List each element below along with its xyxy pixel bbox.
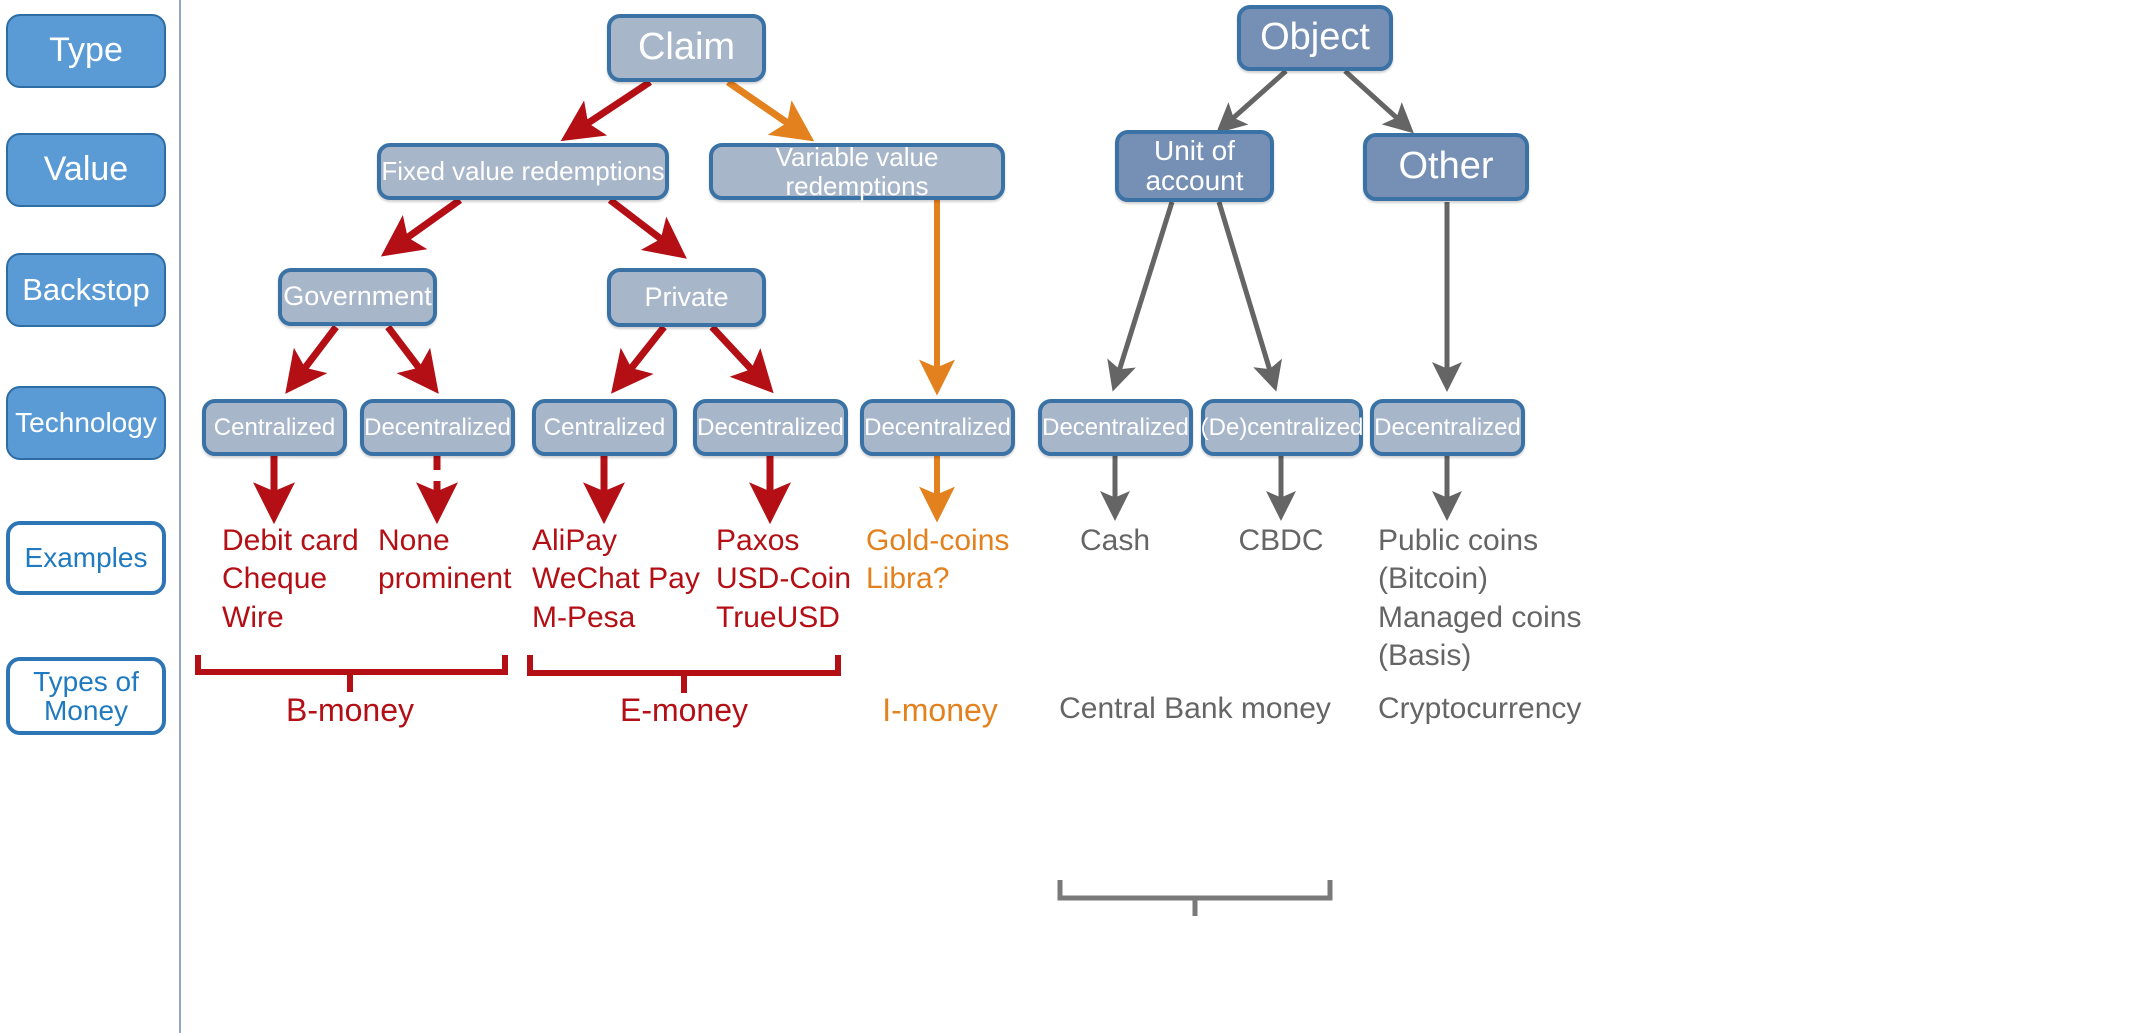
example-e-centralized: AliPay WeChat Pay M-Pesa <box>532 522 732 637</box>
row-label-type[interactable]: Type <box>6 14 166 88</box>
example-cbdc: CBDC <box>1211 522 1351 560</box>
money-type-central-bank-money: Central Bank money <box>1055 690 1335 728</box>
node-tech-priv-decentralized[interactable]: Decentralized <box>693 399 848 456</box>
money-type-cryptocurrency: Cryptocurrency <box>1378 690 1628 728</box>
node-unit-of-account[interactable]: Unit of account <box>1115 130 1274 202</box>
node-tech-uoa-decentralized-2-label: (De)centralized <box>1201 415 1364 441</box>
node-claim[interactable]: Claim <box>607 14 766 82</box>
node-tech-uoa-decentralized[interactable]: Decentralized <box>1038 399 1193 456</box>
node-variable-value-redemptions[interactable]: Variable value redemptions <box>709 143 1005 200</box>
money-type-b-money: B-money <box>255 690 445 731</box>
row-label-type-text: Type <box>49 33 123 69</box>
node-tech-gov-decentralized-label: Decentralized <box>364 415 511 441</box>
node-tech-gov-decentralized[interactable]: Decentralized <box>360 399 515 456</box>
node-private[interactable]: Private <box>607 268 766 327</box>
row-label-examples[interactable]: Examples <box>6 521 166 595</box>
node-tech-other-decentralized-label: Decentralized <box>1374 415 1521 441</box>
node-tech-gov-centralized[interactable]: Centralized <box>202 399 347 456</box>
node-tech-priv-centralized[interactable]: Centralized <box>532 399 677 456</box>
node-tech-priv-centralized-label: Centralized <box>544 415 665 441</box>
row-label-types-of-money-text: Types of Money <box>33 667 139 726</box>
node-tech-variable-decentralized[interactable]: Decentralized <box>860 399 1015 456</box>
node-tech-uoa-decentralized-2[interactable]: (De)centralized <box>1201 399 1363 456</box>
node-tech-uoa-decentralized-label: Decentralized <box>1042 415 1189 441</box>
node-other-label: Other <box>1398 146 1493 187</box>
row-label-backstop[interactable]: Backstop <box>6 253 166 327</box>
node-fixed-value-label: Fixed value redemptions <box>381 157 664 185</box>
node-tech-variable-decentralized-label: Decentralized <box>864 415 1011 441</box>
node-claim-label: Claim <box>638 27 735 68</box>
row-label-types-of-money[interactable]: Types of Money <box>6 657 166 735</box>
node-other[interactable]: Other <box>1363 133 1529 201</box>
example-i-money: Gold-coins Libra? <box>866 522 1056 599</box>
row-label-value-text: Value <box>44 152 128 188</box>
example-b-decentralized: None prominent <box>378 522 558 599</box>
money-type-i-money: I-money <box>845 690 1035 731</box>
node-object-label: Object <box>1260 17 1370 58</box>
node-unit-of-account-label: Unit of account <box>1145 136 1243 196</box>
node-fixed-value-redemptions[interactable]: Fixed value redemptions <box>377 143 669 200</box>
row-label-technology-text: Technology <box>15 408 157 437</box>
node-object[interactable]: Object <box>1237 5 1393 71</box>
row-label-technology[interactable]: Technology <box>6 386 166 460</box>
row-label-examples-text: Examples <box>25 543 148 572</box>
example-cash: Cash <box>1045 522 1185 560</box>
example-cryptocurrency: Public coins (Bitcoin) Managed coins (Ba… <box>1378 522 1628 676</box>
node-government[interactable]: Government <box>278 268 437 326</box>
node-tech-gov-centralized-label: Centralized <box>214 415 335 441</box>
diagram-canvas: Type Value Backstop Technology Examples … <box>0 0 2145 1033</box>
node-tech-other-decentralized[interactable]: Decentralized <box>1370 399 1525 456</box>
node-private-label: Private <box>644 283 728 312</box>
node-government-label: Government <box>283 282 432 311</box>
money-type-e-money: E-money <box>589 690 779 731</box>
row-label-backstop-text: Backstop <box>22 274 150 307</box>
node-tech-priv-decentralized-label: Decentralized <box>697 415 844 441</box>
connector-layer <box>0 0 2145 1033</box>
row-label-value[interactable]: Value <box>6 133 166 207</box>
node-variable-value-label: Variable value redemptions <box>713 143 1001 199</box>
